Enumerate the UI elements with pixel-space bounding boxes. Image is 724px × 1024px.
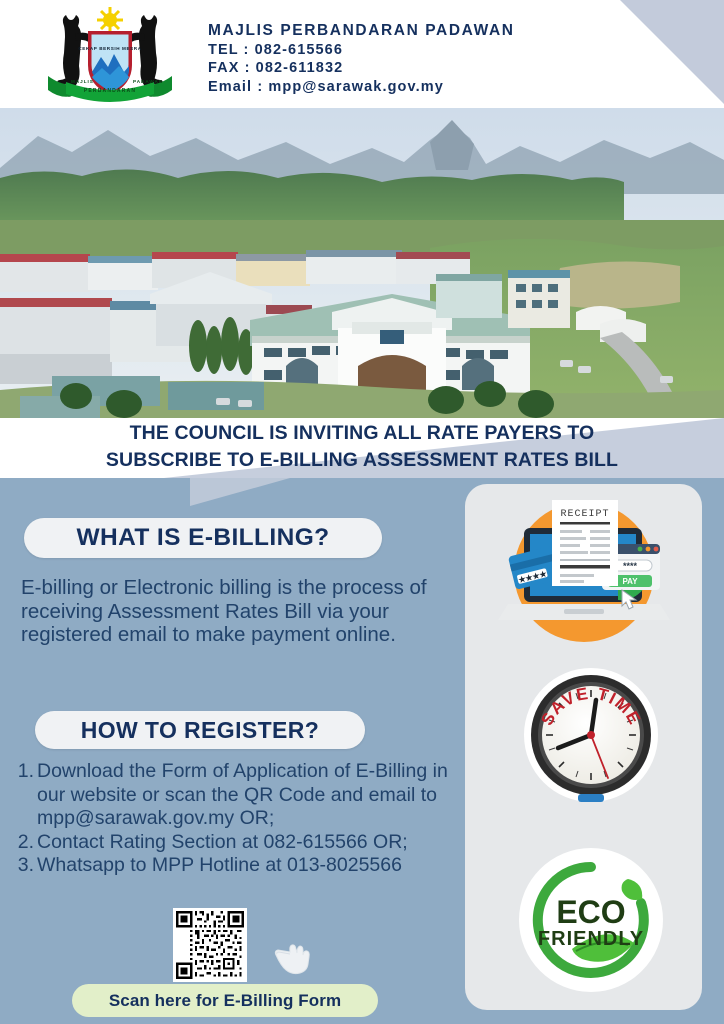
mpp-coat-of-arms-logo: CEKAP BERSIH MESRA PERBANDARAN MAJLIS PA… [30,4,190,106]
receipt-label: RECEIPT [560,509,609,520]
eco-label-bottom: FRIENDLY [538,928,644,950]
aerial-town-photo [0,108,724,418]
pay-label: PAY [622,577,638,586]
list-item-number: 3. [16,854,37,878]
eco-label-top: ECO [556,894,625,930]
banner-headline-line2: SUBSCRIBE TO E-BILLING ASSESSMENT RATES … [0,447,724,474]
list-item-number: 2. [16,831,37,855]
council-email: Email : mpp@sarawak.gov.my [208,78,515,97]
what-is-ebilling-heading: WHAT IS E-BILLING? [24,518,382,558]
council-fax: FAX : 082-611832 [208,59,515,78]
eco-friendly-badge-illustration: ECO FRIENDLY [516,845,666,995]
header: CEKAP BERSIH MESRA PERBANDARAN MAJLIS PA… [0,0,724,108]
list-item-text: Download the Form of Application of E-Bi… [37,760,448,831]
list-item: 2. Contact Rating Section at 082-615566 … [16,831,448,855]
banner-headline-line1: THE COUNCIL IS INVITING ALL RATE PAYERS … [0,420,724,447]
scan-here-button[interactable]: Scan here for E-Billing Form [72,984,378,1017]
council-tel: TEL : 082-615566 [208,41,515,60]
header-contact-block: MAJLIS PERBANDARAN PADAWAN TEL : 082-615… [208,22,515,96]
receipt-online-payment-illustration: **** PAY ★★★★ RECEIPT [490,492,678,658]
how-to-register-steps: 1. Download the Form of Application of E… [16,760,448,878]
qr-code[interactable] [173,908,247,982]
content-diagonal-decoration [190,478,290,506]
save-time-clock-illustration: SAVE TIME [516,660,666,810]
card-digits: **** [623,561,638,571]
svg-text:PERBANDARAN: PERBANDARAN [84,88,136,94]
svg-text:PADAWAN: PADAWAN [133,79,163,84]
list-item-text: Whatsapp to MPP Hotline at 013-8025566 [37,854,448,878]
svg-text:CEKAP BERSIH MESRA: CEKAP BERSIH MESRA [78,46,141,51]
what-is-ebilling-paragraph: E-billing or Electronic billing is the p… [21,576,446,647]
list-item-text: Contact Rating Section at 082-615566 OR; [37,831,448,855]
banner-headline: THE COUNCIL IS INVITING ALL RATE PAYERS … [0,420,724,474]
e-billing-poster: CEKAP BERSIH MESRA PERBANDARAN MAJLIS PA… [0,0,724,1024]
how-to-register-heading: HOW TO REGISTER? [35,711,365,749]
list-item-number: 1. [16,760,37,784]
council-name: MAJLIS PERBANDARAN PADAWAN [208,22,515,41]
list-item: 1. Download the Form of Application of E… [16,760,448,831]
header-corner-decoration [620,0,724,104]
pointing-hand-icon [270,931,316,977]
svg-text:MAJLIS: MAJLIS [71,79,94,84]
list-item: 3. Whatsapp to MPP Hotline at 013-802556… [16,854,448,878]
